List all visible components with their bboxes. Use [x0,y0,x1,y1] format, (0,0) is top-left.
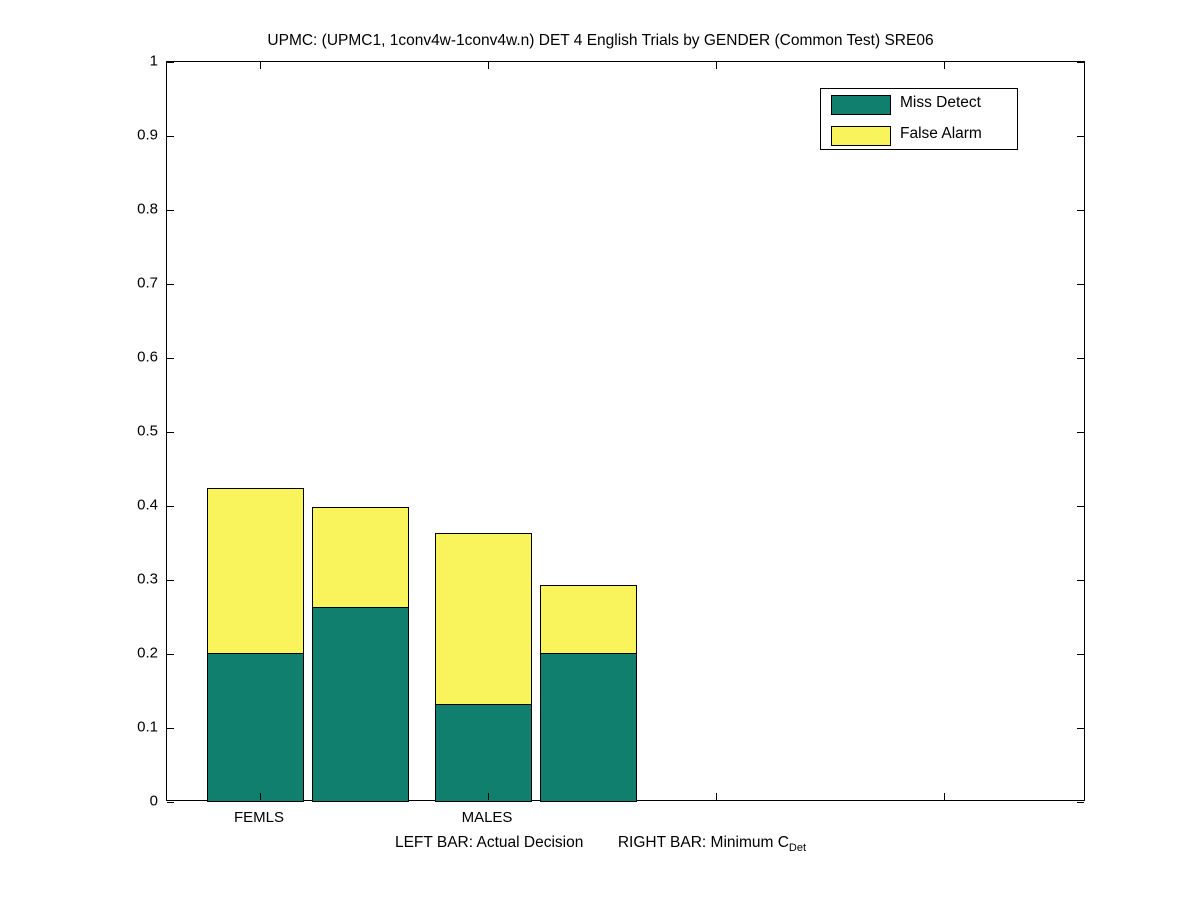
legend-label: False Alarm [900,125,982,143]
figure-canvas: UPMC: (UPMC1, 1conv4w-1conv4w.n) DET 4 E… [0,0,1201,900]
x-tick-label: MALES [462,809,513,826]
y-tick-label: 0 [110,793,158,810]
y-tick-mark [167,432,174,433]
bar-segment-miss-detect [312,607,409,802]
y-tick-label: 0.3 [110,571,158,588]
legend-swatch [831,95,891,115]
chart-legend: Miss DetectFalse Alarm [820,88,1018,150]
legend-label: Miss Detect [900,94,981,112]
bar-segment-miss-detect [540,653,637,802]
y-tick-label: 0.2 [110,645,158,662]
footer-right-text: RIGHT BAR: Minimum C [618,834,789,851]
plot-area [166,61,1085,801]
bar-segment-false-alarm [312,507,409,608]
y-tick-mark [167,210,174,211]
y-tick-mark [1077,284,1084,285]
bar-segment-false-alarm [540,585,637,653]
y-tick-mark [1077,506,1084,507]
legend-item: False Alarm [821,120,1017,151]
y-tick-label: 0.6 [110,349,158,366]
legend-swatch [831,126,891,146]
x-tick-mark [488,62,489,69]
bar-segment-miss-detect [207,653,304,802]
y-tick-mark [167,136,174,137]
legend-item: Miss Detect [821,89,1017,120]
bar-segment-miss-detect [435,704,532,802]
y-tick-mark [1077,432,1084,433]
y-tick-mark [1077,210,1084,211]
y-tick-label: 0.9 [110,127,158,144]
x-tick-mark [944,62,945,69]
x-tick-mark [488,793,489,800]
plot-inner [167,62,1084,800]
footer-right-subscript: Det [789,842,806,854]
footer-left-text: LEFT BAR: Actual Decision [395,834,583,851]
x-tick-label: FEMLS [234,809,284,826]
y-tick-mark [167,728,174,729]
y-tick-mark [1077,580,1084,581]
y-tick-mark [167,580,174,581]
y-tick-mark [1077,802,1084,803]
bar-segment-false-alarm [207,488,304,655]
y-tick-mark [167,62,174,63]
footer-gap [588,834,614,851]
chart-title: UPMC: (UPMC1, 1conv4w-1conv4w.n) DET 4 E… [0,32,1201,50]
y-tick-label: 1 [110,53,158,70]
y-tick-mark [1077,728,1084,729]
y-tick-mark [1077,358,1084,359]
y-tick-mark [1077,136,1084,137]
y-tick-mark [167,802,174,803]
x-tick-mark [944,793,945,800]
y-tick-mark [1077,654,1084,655]
footer-caption: LEFT BAR: Actual Decision RIGHT BAR: Min… [0,834,1201,854]
y-tick-mark [167,284,174,285]
bar-segment-false-alarm [435,533,532,706]
y-tick-label: 0.8 [110,201,158,218]
y-tick-mark [167,358,174,359]
y-tick-mark [167,506,174,507]
y-tick-label: 0.7 [110,275,158,292]
x-tick-mark [716,62,717,69]
x-tick-mark [260,62,261,69]
y-tick-label: 0.5 [110,423,158,440]
y-tick-mark [1077,62,1084,63]
x-tick-mark [716,793,717,800]
y-tick-mark [167,654,174,655]
y-tick-label: 0.1 [110,719,158,736]
x-tick-mark [260,793,261,800]
y-tick-label: 0.4 [110,497,158,514]
